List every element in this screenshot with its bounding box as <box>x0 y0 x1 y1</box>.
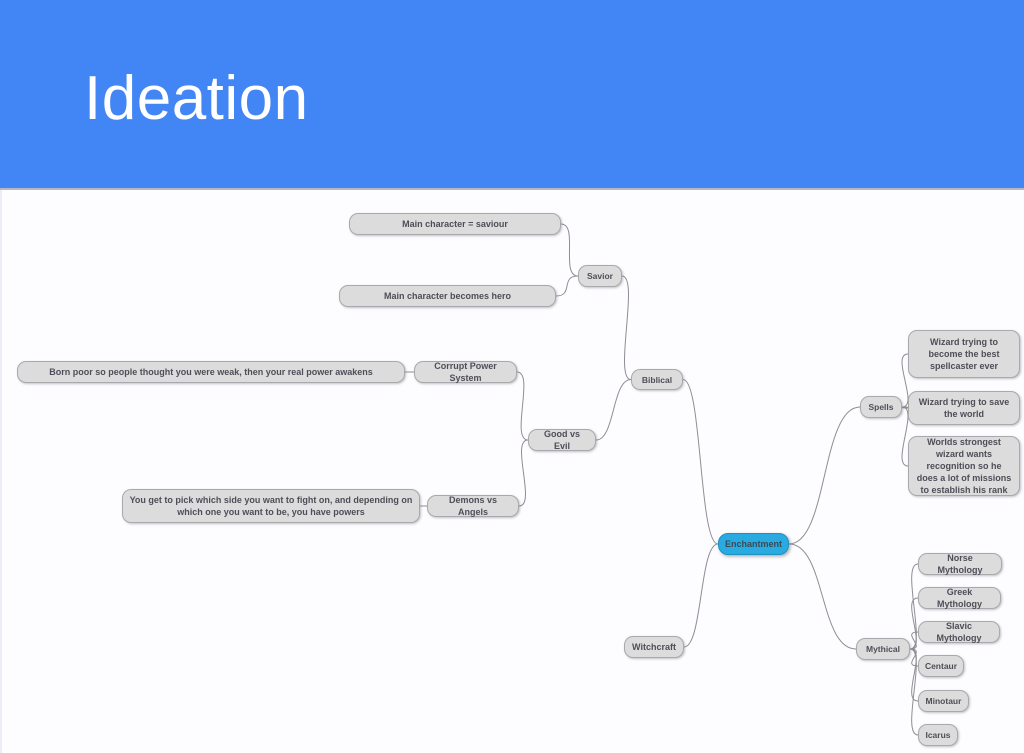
mindmap-node-witchcraft[interactable]: Witchcraft <box>624 636 684 658</box>
mindmap-node-biblical[interactable]: Biblical <box>631 369 683 390</box>
mindmap-node-label: Savior <box>587 270 613 282</box>
mindmap-node-label: Witchcraft <box>632 641 676 653</box>
mindmap-node-born-poor[interactable]: Born poor so people thought you were wea… <box>17 361 405 383</box>
mindmap-node-label: Icarus <box>925 729 950 741</box>
mindmap-link-savior-to-main-char-hero <box>556 276 578 296</box>
mindmap-node-main-char-saviour[interactable]: Main character = saviour <box>349 213 561 235</box>
mindmap-link-enchantment-to-witchcraft <box>684 544 718 647</box>
mindmap-node-label: Enchantment <box>725 538 782 550</box>
mindmap-node-icarus[interactable]: Icarus <box>918 724 958 746</box>
mindmap-node-centaur[interactable]: Centaur <box>918 655 964 677</box>
mindmap-link-enchantment-to-mythical <box>789 544 856 649</box>
mindmap-link-savior-to-main-char-saviour <box>561 224 578 276</box>
mindmap-link-good-vs-evil-to-demons-vs-angels <box>519 440 528 506</box>
mindmap-node-demons-vs-angels[interactable]: Demons vs Angels <box>427 495 519 517</box>
mindmap-node-label: Slavic Mythology <box>925 620 993 644</box>
mindmap-canvas[interactable]: EnchantmentBiblicalSaviorMain character … <box>0 190 1024 753</box>
mindmap-node-main-char-hero[interactable]: Main character becomes hero <box>339 285 556 307</box>
mindmap-node-label: Corrupt Power System <box>421 360 510 384</box>
mindmap-node-savior[interactable]: Savior <box>578 265 622 287</box>
mindmap-node-pick-side[interactable]: You get to pick which side you want to f… <box>122 489 420 523</box>
page-title: Ideation <box>84 60 309 138</box>
mindmap-node-label: Biblical <box>642 374 672 386</box>
mindmap-node-greek-mythology[interactable]: Greek Mythology <box>918 587 1001 609</box>
mindmap-node-label: Worlds strongest wizard wants recognitio… <box>915 436 1013 496</box>
mindmap-link-biblical-to-good-vs-evil <box>596 380 631 441</box>
mindmap-node-label: Good vs Evil <box>535 428 589 452</box>
mindmap-node-wizard-best[interactable]: Wizard trying to become the best spellca… <box>908 330 1020 378</box>
mindmap-node-corrupt-power-system[interactable]: Corrupt Power System <box>414 361 517 383</box>
mindmap-link-enchantment-to-biblical <box>683 380 718 545</box>
mindmap-link-good-vs-evil-to-corrupt-power-system <box>517 372 528 440</box>
mindmap-node-spells[interactable]: Spells <box>860 396 902 418</box>
mindmap-node-mythical[interactable]: Mythical <box>856 638 910 660</box>
mindmap-node-label: Born poor so people thought you were wea… <box>49 366 373 378</box>
mindmap-node-label: Greek Mythology <box>925 586 994 610</box>
mindmap-node-label: Norse Mythology <box>925 552 995 576</box>
mindmap-node-label: Main character becomes hero <box>384 290 511 302</box>
mindmap-node-label: Centaur <box>925 660 957 672</box>
presentation-slide: Ideation EnchantmentBiblicalSaviorMain c… <box>0 0 1024 753</box>
mindmap-node-good-vs-evil[interactable]: Good vs Evil <box>528 429 596 451</box>
mindmap-link-biblical-to-savior <box>622 276 631 380</box>
mindmap-link-enchantment-to-spells <box>789 407 860 544</box>
mindmap-node-wizard-save-world[interactable]: Wizard trying to save the world <box>908 391 1020 425</box>
mindmap-node-label: Spells <box>868 401 893 413</box>
mindmap-node-label: Wizard trying to become the best spellca… <box>915 336 1013 372</box>
mindmap-link-layer <box>2 190 1024 753</box>
mindmap-node-label: Mythical <box>866 643 900 655</box>
mindmap-node-label: Wizard trying to save the world <box>915 396 1013 420</box>
mindmap-node-enchantment[interactable]: Enchantment <box>718 533 789 555</box>
mindmap-node-worlds-strongest[interactable]: Worlds strongest wizard wants recognitio… <box>908 436 1020 496</box>
mindmap-node-norse-mythology[interactable]: Norse Mythology <box>918 553 1002 575</box>
mindmap-node-label: Main character = saviour <box>402 218 508 230</box>
mindmap-node-label: Demons vs Angels <box>434 494 512 518</box>
mindmap-node-slavic-mythology[interactable]: Slavic Mythology <box>918 621 1000 643</box>
mindmap-node-label: You get to pick which side you want to f… <box>129 494 413 518</box>
mindmap-node-minotaur[interactable]: Minotaur <box>918 690 969 712</box>
mindmap-node-label: Minotaur <box>926 695 962 707</box>
